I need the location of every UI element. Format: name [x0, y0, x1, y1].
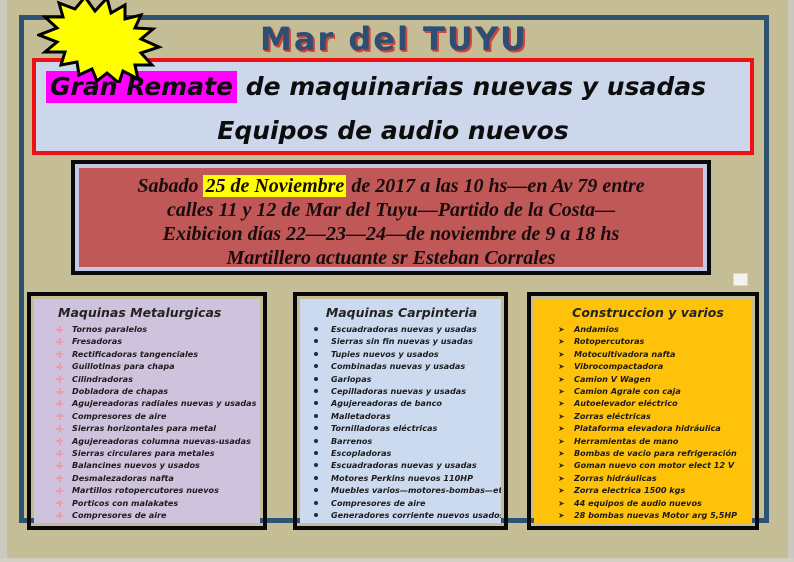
- arrow-bullet: ➤: [558, 361, 565, 373]
- list-item-label: Agujereadoras radiales nuevas y usadas: [72, 398, 256, 408]
- outer-margin-bottom: [0, 558, 794, 562]
- arrow-bullet: ➤: [558, 423, 565, 435]
- list-item-label: Cepilladoras nuevas y usadas: [331, 386, 466, 396]
- plus-cross-bullet: [56, 438, 63, 445]
- list-item-label: Rectificadoras tangenciales: [72, 349, 198, 359]
- list-item: Muebles varios—motores-bombas—etc: [306, 484, 497, 496]
- list-item: Escuadradoras nuevas y usadas: [306, 323, 497, 335]
- list-item: ➤Goman nuevo con motor elect 12 V: [540, 459, 748, 471]
- plus-cross-bullet: [56, 500, 63, 507]
- list-item-label: Desmalezadoras nafta: [72, 473, 174, 483]
- round-dot-bullet: [314, 488, 318, 492]
- list-item: ➤Camion V Wagen: [540, 373, 748, 385]
- list-item: Fresadoras: [40, 335, 256, 347]
- list-item: Motores Perkins nuevos 110HP: [306, 472, 497, 484]
- plus-cross-bullet: [56, 450, 63, 457]
- list-item-label: 28 bombas nuevas Motor arg 5,5HP: [574, 510, 737, 520]
- list-item: Compresores de aire: [306, 497, 497, 509]
- list-item-label: Herramientas de mano: [574, 436, 678, 446]
- list-item-label: Zorras eléctricas: [574, 411, 651, 421]
- list-item-label: Tornilladoras eléctricas: [331, 423, 437, 433]
- list-item: Desmalezadoras nafta: [40, 472, 256, 484]
- round-dot-bullet: [314, 501, 318, 505]
- list-item: Sierras circulares para metales: [40, 447, 256, 459]
- date-line-1-pre: Sabado: [137, 175, 203, 197]
- plus-cross-bullet: [56, 376, 63, 383]
- plus-cross-bullet: [56, 388, 63, 395]
- list-item: ➤Bombas de vacio para refrigeración: [540, 447, 748, 459]
- list-item-label: Muebles varios—motores-bombas—etc: [331, 485, 501, 495]
- list-item-label: Tupies nuevos y usados: [331, 349, 439, 359]
- date-line-2: calles 11 y 12 de Mar del Tuyu—Partido d…: [89, 198, 693, 222]
- list-item: ➤28 bombas nuevas Motor arg 5,5HP: [540, 509, 748, 521]
- date-details-inner: Sabado 25 de Noviembre de 2017 a las 10 …: [79, 168, 703, 267]
- outer-margin-right: [788, 0, 794, 562]
- category-panel-inner: Construccion y varios ➤Andamios➤Rotoperc…: [534, 299, 752, 523]
- list-item: ➤Zorras hidráulicas: [540, 472, 748, 484]
- list-item: ➤Vibrocompactadora: [540, 360, 748, 372]
- list-item: ➤44 equipos de audio nuevos: [540, 497, 748, 509]
- list-item: Agujereadoras de banco: [306, 397, 497, 409]
- list-item: Garlopas: [306, 373, 497, 385]
- list-item: Dobladora de chapas: [40, 385, 256, 397]
- list-item-label: Guillotinas para chapa: [72, 361, 175, 371]
- list-item-label: Zorra electrica 1500 kgs: [574, 485, 685, 495]
- poster-canvas: Mar del TUYU Gran Remate de maquinarias …: [0, 0, 794, 562]
- arrow-bullet: ➤: [558, 485, 565, 497]
- round-dot-bullet: [314, 364, 318, 368]
- round-dot-bullet: [314, 377, 318, 381]
- arrow-bullet: ➤: [558, 349, 565, 361]
- headline-rest: de maquinarias nuevas y usadas: [237, 72, 706, 101]
- list-item-label: Rotopercutoras: [574, 336, 644, 346]
- round-dot-bullet: [314, 327, 318, 331]
- round-dot-bullet: [314, 439, 318, 443]
- list-item-label: Agujereadoras columna nuevas-usadas: [72, 436, 251, 446]
- list-item: ➤Zorra electrica 1500 kgs: [540, 484, 748, 496]
- plus-cross-bullet: [56, 475, 63, 482]
- list-item-label: Sierras sin fin nuevas y usadas: [331, 336, 473, 346]
- list-item: ➤Rotopercutoras: [540, 335, 748, 347]
- arrow-bullet: ➤: [558, 436, 565, 448]
- category-panel-inner: Maquinas Carpinteria Escuadradoras nueva…: [300, 299, 501, 523]
- category-heading: Maquinas Carpinteria: [306, 305, 497, 320]
- list-item: Tupies nuevos y usados: [306, 348, 497, 360]
- round-dot-bullet: [314, 451, 318, 455]
- category-heading: Construccion y varios: [540, 305, 748, 320]
- list-item-label: Porticos con malakates: [72, 498, 178, 508]
- list-item: Cilindradoras: [40, 373, 256, 385]
- category-panel-construccion: Construccion y varios ➤Andamios➤Rotoperc…: [527, 292, 759, 530]
- date-line-4: Martillero actuante sr Esteban Corrales: [89, 246, 693, 270]
- list-item-label: Garlopas: [331, 374, 372, 384]
- arrow-bullet: ➤: [558, 473, 565, 485]
- list-item: Sierras sin fin nuevas y usadas: [306, 335, 497, 347]
- list-item-label: Zorras hidráulicas: [574, 473, 657, 483]
- list-item-label: Andamios: [574, 324, 619, 334]
- list-item: Escuadradoras nuevas y usadas: [306, 459, 497, 471]
- list-item: Malletadoras: [306, 410, 497, 422]
- category-item-list: ➤Andamios➤Rotopercutoras➤Motocultivadora…: [540, 323, 748, 522]
- list-item: ➤Zorras eléctricas: [540, 410, 748, 422]
- list-item-label: Martillos rotopercutores nuevos: [72, 485, 219, 495]
- list-item-label: Combinadas nuevas y usadas: [331, 361, 465, 371]
- list-item-label: Compresores de aire: [72, 510, 167, 520]
- list-item-label: Generadores corriente nuevos usados: [331, 510, 501, 520]
- list-item-label: Cilindradoras: [72, 374, 133, 384]
- list-item: Agujereadoras columna nuevas-usadas: [40, 435, 256, 447]
- round-dot-bullet: [314, 339, 318, 343]
- arrow-bullet: ➤: [558, 460, 565, 472]
- arrow-bullet: ➤: [558, 498, 565, 510]
- list-item: Compresores de aire: [40, 509, 256, 521]
- round-dot-bullet: [314, 513, 318, 517]
- list-item: Guillotinas para chapa: [40, 360, 256, 372]
- list-item: Sierras horizontales para metal: [40, 422, 256, 434]
- arrow-bullet: ➤: [558, 324, 565, 336]
- arrow-bullet: ➤: [558, 336, 565, 348]
- category-panel-metalurgicas: Maquinas Metalurgicas Tornos paralelosFr…: [27, 292, 267, 530]
- list-item-label: Motocultivadora nafta: [574, 349, 675, 359]
- list-item-label: Compresores de aire: [72, 411, 167, 421]
- plus-cross-bullet: [56, 462, 63, 469]
- list-item-label: Dobladora de chapas: [72, 386, 168, 396]
- list-item: Balancines nuevos y usados: [40, 459, 256, 471]
- headline-line-2: Equipos de audio nuevos: [36, 109, 750, 153]
- arrow-bullet: ➤: [558, 374, 565, 386]
- list-item: ➤Autoelevador eléctrico: [540, 397, 748, 409]
- date-highlight: 25 de Noviembre: [203, 175, 346, 197]
- list-item: Tornos paralelos: [40, 323, 256, 335]
- arrow-bullet: ➤: [558, 510, 565, 522]
- arrow-bullet: ➤: [558, 386, 565, 398]
- round-dot-bullet: [314, 389, 318, 393]
- list-item: ➤Herramientas de mano: [540, 435, 748, 447]
- list-item-label: Agujereadoras de banco: [331, 398, 442, 408]
- list-item: Generadores corriente nuevos usados: [306, 509, 497, 521]
- list-item-label: Escuadradoras nuevas y usadas: [331, 460, 477, 470]
- plus-cross-bullet: [56, 413, 63, 420]
- list-item: Tornilladoras eléctricas: [306, 422, 497, 434]
- category-item-list: Tornos paralelosFresadorasRectificadoras…: [40, 323, 256, 522]
- list-item: Combinadas nuevas y usadas: [306, 360, 497, 372]
- list-item-label: 44 equipos de audio nuevos: [574, 498, 702, 508]
- list-item-label: Escopladoras: [331, 448, 391, 458]
- round-dot-bullet: [314, 352, 318, 356]
- list-item-label: Malletadoras: [331, 411, 391, 421]
- round-dot-bullet: [314, 426, 318, 430]
- round-dot-bullet: [314, 463, 318, 467]
- list-item-label: Sierras circulares para metales: [72, 448, 215, 458]
- list-item: ➤Camion Agrale con caja: [540, 385, 748, 397]
- list-item: Cepilladoras nuevas y usadas: [306, 385, 497, 397]
- category-panel-inner: Maquinas Metalurgicas Tornos paralelosFr…: [34, 299, 260, 523]
- round-dot-bullet: [314, 414, 318, 418]
- date-line-1: Sabado 25 de Noviembre de 2017 a las 10 …: [89, 174, 693, 198]
- category-heading: Maquinas Metalurgicas: [40, 305, 256, 320]
- list-item-label: Tornos paralelos: [72, 324, 147, 334]
- date-line-1-post: de 2017 a las 10 hs—en Av 79 entre: [346, 175, 644, 197]
- list-item-label: Camion Agrale con caja: [574, 386, 681, 396]
- list-item: Barrenos: [306, 435, 497, 447]
- category-panel-carpinteria: Maquinas Carpinteria Escuadradoras nueva…: [293, 292, 508, 530]
- list-item: Porticos con malakates: [40, 497, 256, 509]
- stray-white-square: [733, 273, 748, 286]
- plus-cross-bullet: [56, 326, 63, 333]
- list-item: Compresores de aire: [40, 410, 256, 422]
- arrow-bullet: ➤: [558, 411, 565, 423]
- plus-cross-bullet: [56, 363, 63, 370]
- starburst-icon: [37, 0, 167, 83]
- plus-cross-bullet: [56, 425, 63, 432]
- plus-cross-bullet: [56, 338, 63, 345]
- list-item-label: Vibrocompactadora: [574, 361, 663, 371]
- plus-cross-bullet: [56, 400, 63, 407]
- list-item: ➤Motocultivadora nafta: [540, 348, 748, 360]
- round-dot-bullet: [314, 401, 318, 405]
- list-item-label: Motores Perkins nuevos 110HP: [331, 473, 473, 483]
- list-item-label: Autoelevador eléctrico: [574, 398, 678, 408]
- list-item: Escopladoras: [306, 447, 497, 459]
- list-item: ➤Plataforma elevadora hidráulica: [540, 422, 748, 434]
- date-line-3: Exibicion días 22—23—24—de noviembre de …: [89, 222, 693, 246]
- list-item: ➤Andamios: [540, 323, 748, 335]
- list-item: Martillos rotopercutores nuevos: [40, 484, 256, 496]
- list-item-label: Escuadradoras nuevas y usadas: [331, 324, 477, 334]
- list-item-label: Compresores de aire: [331, 498, 426, 508]
- plus-cross-bullet: [56, 487, 63, 494]
- list-item-label: Goman nuevo con motor elect 12 V: [574, 460, 734, 470]
- arrow-bullet: ➤: [558, 448, 565, 460]
- list-item-label: Camion V Wagen: [574, 374, 651, 384]
- list-item-label: Bombas de vacio para refrigeración: [574, 448, 737, 458]
- list-item-label: Barrenos: [331, 436, 372, 446]
- plus-cross-bullet: [56, 351, 63, 358]
- plus-cross-bullet: [56, 512, 63, 519]
- outer-margin-left: [0, 0, 7, 562]
- category-item-list: Escuadradoras nuevas y usadasSierras sin…: [306, 323, 497, 522]
- list-item-label: Plataforma elevadora hidráulica: [574, 423, 721, 433]
- arrow-bullet: ➤: [558, 398, 565, 410]
- list-item: Agujereadoras radiales nuevas y usadas: [40, 397, 256, 409]
- list-item-label: Sierras horizontales para metal: [72, 423, 216, 433]
- list-item-label: Balancines nuevos y usados: [72, 460, 200, 470]
- list-item-label: Fresadoras: [72, 336, 122, 346]
- list-item: Rectificadoras tangenciales: [40, 348, 256, 360]
- round-dot-bullet: [314, 476, 318, 480]
- date-details-box: Sabado 25 de Noviembre de 2017 a las 10 …: [71, 160, 711, 275]
